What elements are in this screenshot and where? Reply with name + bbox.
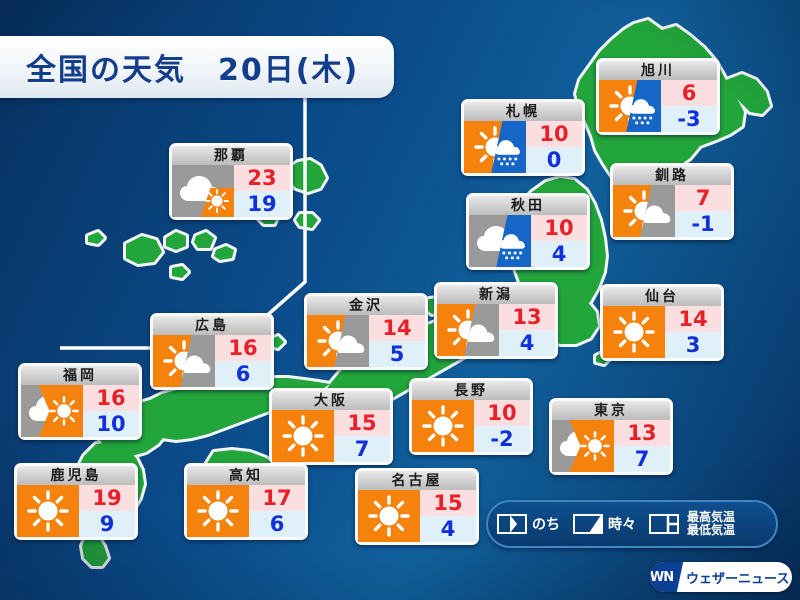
temperature-group: 154	[420, 490, 476, 542]
city-card[interactable]: 福岡1610	[18, 363, 142, 440]
legend-sometimes-label: 時々	[608, 514, 636, 534]
city-name: 札幌	[464, 102, 582, 121]
page-title: 全国の天気 20日(木)	[26, 45, 359, 89]
high-temperature: 10	[531, 215, 587, 241]
weather-icon-group	[603, 306, 665, 358]
weather-icon-group	[599, 80, 661, 132]
city-card-body: 134	[437, 304, 555, 356]
low-temperature: 7	[614, 446, 670, 472]
city-name: 秋田	[469, 196, 587, 215]
city-card-body: 166	[153, 335, 271, 387]
temperature-group: 134	[499, 304, 555, 356]
city-card[interactable]: 大阪157	[269, 388, 393, 465]
weather-icon-group	[187, 485, 249, 537]
city-card-body: 154	[358, 490, 476, 542]
city-card[interactable]: 新潟134	[434, 282, 558, 359]
legend-temperature: 最高気温 最低気温	[640, 511, 735, 536]
high-temperature: 13	[614, 420, 670, 446]
high-temperature: 19	[79, 485, 135, 511]
low-temperature: -1	[675, 211, 731, 237]
low-temperature: 0	[526, 147, 582, 173]
high-temperature: 15	[334, 410, 390, 436]
weather-icon-group	[412, 400, 474, 452]
low-temperature: 7	[334, 436, 390, 462]
city-card-body: 176	[187, 485, 305, 537]
sun-glyph	[17, 485, 79, 537]
city-name: 福岡	[21, 366, 139, 385]
then-glyph-icon	[497, 514, 527, 534]
city-card-body: 7-1	[613, 185, 731, 237]
city-card[interactable]: 札幌100	[461, 99, 585, 176]
sun-glyph	[412, 400, 474, 452]
legend-then-label: のち	[532, 514, 560, 534]
city-card[interactable]: 東京137	[549, 398, 673, 475]
low-temperature: 6	[215, 361, 271, 387]
city-name: 大阪	[272, 391, 390, 410]
city-card[interactable]: 長野10-2	[409, 378, 533, 455]
weather-icon-group	[437, 304, 499, 356]
city-name: 長野	[412, 381, 530, 400]
low-temperature: -3	[661, 106, 717, 132]
high-temperature: 23	[234, 165, 290, 191]
city-card[interactable]: 鹿児島199	[14, 463, 138, 540]
city-card[interactable]: 仙台143	[600, 284, 724, 361]
city-name: 那覇	[172, 146, 290, 165]
high-temperature: 6	[661, 80, 717, 106]
city-name: 旭川	[599, 61, 717, 80]
high-temperature: 14	[369, 315, 425, 341]
sun-icon	[603, 306, 665, 358]
city-card-body: 2319	[172, 165, 290, 217]
temperature-split-icon	[649, 514, 679, 534]
sun-icon	[187, 485, 249, 537]
low-temperature: 4	[499, 330, 555, 356]
city-card[interactable]: 旭川6-3	[596, 58, 720, 135]
legend-temp-labels: 最高気温 最低気温	[687, 511, 735, 536]
city-name: 釧路	[613, 166, 731, 185]
city-card[interactable]: 那覇2319	[169, 143, 293, 220]
temperature-group: 176	[249, 485, 305, 537]
city-card-body: 145	[307, 315, 425, 367]
legend: のち 時々 最高気温 最低気温	[486, 500, 778, 548]
temperature-group: 143	[665, 306, 721, 358]
wn-badge-icon: WN	[650, 562, 683, 592]
city-card-body: 6-3	[599, 80, 717, 132]
weather-icon-group	[469, 215, 531, 267]
low-temperature: 19	[234, 191, 290, 217]
temperature-group: 10-2	[474, 400, 530, 452]
city-card-body: 157	[272, 410, 390, 462]
high-temperature: 16	[83, 385, 139, 411]
high-temperature: 7	[675, 185, 731, 211]
city-card-body: 137	[552, 420, 670, 472]
high-temperature: 17	[249, 485, 305, 511]
city-card-body: 10-2	[412, 400, 530, 452]
temperature-group: 145	[369, 315, 425, 367]
legend-then: のち	[488, 514, 564, 534]
temperature-group: 166	[215, 335, 271, 387]
city-name: 広島	[153, 316, 271, 335]
temperature-group: 157	[334, 410, 390, 462]
city-card-body: 199	[17, 485, 135, 537]
high-temperature: 10	[474, 400, 530, 426]
temperature-group: 104	[531, 215, 587, 267]
temperature-group: 2319	[234, 165, 290, 217]
weather-icon-group	[17, 485, 79, 537]
high-temperature: 13	[499, 304, 555, 330]
brand-name: ウェザーニュース	[686, 568, 789, 587]
sun-icon	[358, 490, 420, 542]
city-name: 新潟	[437, 285, 555, 304]
high-temperature: 15	[420, 490, 476, 516]
city-card[interactable]: 広島166	[150, 313, 274, 390]
low-temperature: -2	[474, 426, 530, 452]
high-temperature: 14	[665, 306, 721, 332]
temperature-group: 7-1	[675, 185, 731, 237]
sun-icon	[272, 410, 334, 462]
low-temperature: 3	[665, 332, 721, 358]
city-name: 東京	[552, 401, 670, 420]
weather-icon-group	[21, 385, 83, 437]
low-temperature: 4	[531, 241, 587, 267]
weathernews-logo[interactable]: WN ウェザーニュース	[650, 562, 792, 592]
low-temperature: 10	[83, 411, 139, 437]
city-card[interactable]: 秋田104	[466, 193, 590, 270]
weather-icon-group	[613, 185, 675, 237]
page-title-banner: 全国の天気 20日(木)	[0, 36, 394, 98]
weather-icon-group	[272, 410, 334, 462]
sometimes-glyph-icon	[573, 514, 603, 534]
weather-icon-group	[464, 121, 526, 173]
temperature-group: 199	[79, 485, 135, 537]
high-temperature: 10	[526, 121, 582, 147]
legend-sometimes: 時々	[564, 514, 640, 534]
temperature-group: 1610	[83, 385, 139, 437]
temperature-group: 137	[614, 420, 670, 472]
city-card[interactable]: 金沢145	[304, 293, 428, 370]
city-card-body: 104	[469, 215, 587, 267]
city-card[interactable]: 高知176	[184, 463, 308, 540]
weather-map-screen: 全国の天気 20日(木) 旭川6-3札幌100釧路7-1秋田104那覇2319新…	[0, 0, 800, 600]
high-temperature: 16	[215, 335, 271, 361]
weather-icon-group	[358, 490, 420, 542]
city-card[interactable]: 名古屋154	[355, 468, 479, 545]
low-temperature: 9	[79, 511, 135, 537]
sun-icon	[17, 485, 79, 537]
low-temperature: 4	[420, 516, 476, 542]
temperature-group: 6-3	[661, 80, 717, 132]
city-card-body: 100	[464, 121, 582, 173]
sun-glyph	[603, 306, 665, 358]
legend-low-label: 最低気温	[687, 524, 735, 537]
weather-icon-group	[172, 165, 234, 217]
sun-glyph	[358, 490, 420, 542]
city-name: 高知	[187, 466, 305, 485]
weather-icon-group	[552, 420, 614, 472]
sun-icon	[412, 400, 474, 452]
city-name: 名古屋	[358, 471, 476, 490]
city-card-body: 1610	[21, 385, 139, 437]
low-temperature: 6	[249, 511, 305, 537]
wn-badge-text: WN	[650, 570, 673, 585]
temperature-group: 100	[526, 121, 582, 173]
low-temperature: 5	[369, 341, 425, 367]
city-card-body: 143	[603, 306, 721, 358]
city-name: 金沢	[307, 296, 425, 315]
city-name: 仙台	[603, 287, 721, 306]
sun-glyph	[272, 410, 334, 462]
city-card[interactable]: 釧路7-1	[610, 163, 734, 240]
weather-icon-group	[307, 315, 369, 367]
sun-glyph	[187, 485, 249, 537]
weather-icon-group	[153, 335, 215, 387]
city-name: 鹿児島	[17, 466, 135, 485]
